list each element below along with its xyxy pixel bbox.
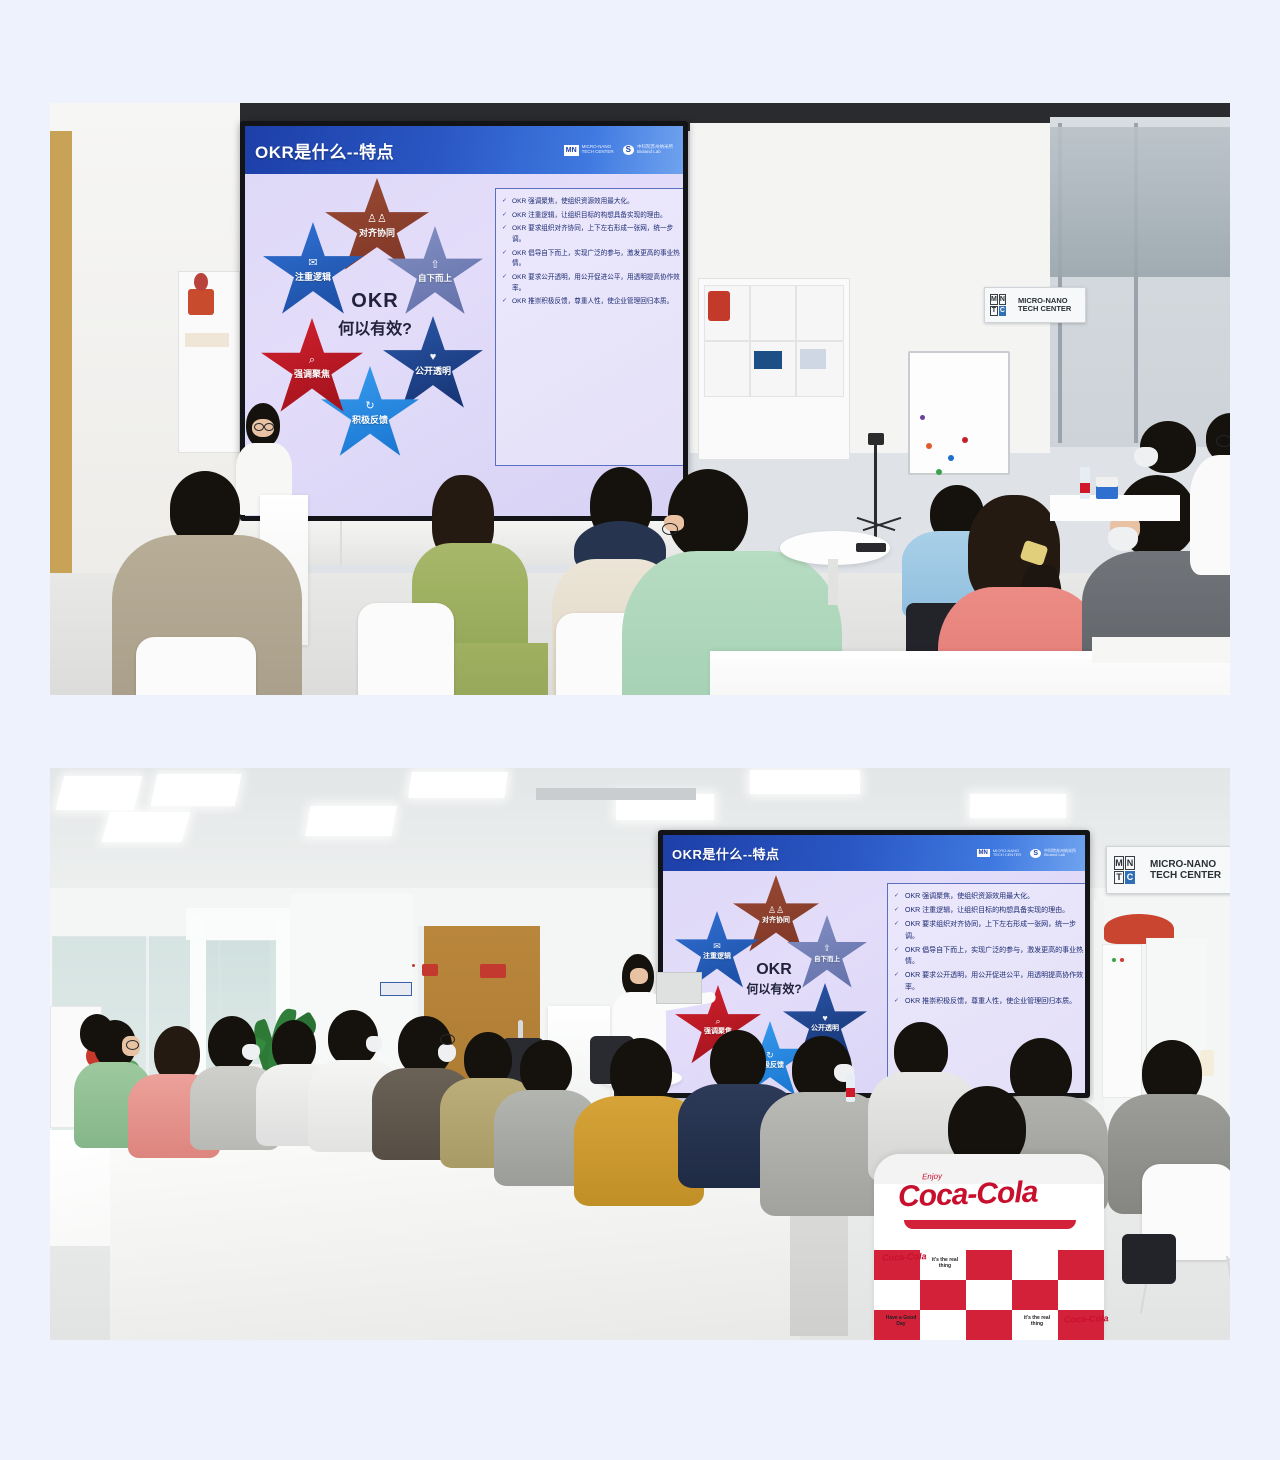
camera-body <box>868 433 884 445</box>
window-glass <box>1050 127 1230 277</box>
check-icon: ✓ <box>894 970 899 980</box>
star-label: 公开透明 <box>415 364 451 377</box>
bullet-item: ✓ OKR 要求组织对齐协同，上下左右形成一张网，统一步调。 <box>502 224 683 245</box>
page-root: M N T C MICRO-NANO TECH CENTER OKR是什么--特… <box>0 0 1280 1460</box>
search-icon: ⌕ <box>309 355 315 366</box>
bottle-label <box>846 1088 855 1097</box>
bullet-list: ✓ OKR 强调聚焦，使组织资源效用最大化。 ✓ OKR 注重逻辑，让组织目标的… <box>894 891 1084 1008</box>
bullet-item: ✓ OKR 注重逻辑，让组织目标的构想具备实现的理由。 <box>502 211 683 222</box>
check-icon: ✓ <box>894 919 899 929</box>
magnet-dot <box>948 455 954 461</box>
audience-glasses <box>440 1034 455 1045</box>
audience-glasses <box>126 1040 139 1050</box>
audience-head-2 <box>80 1014 114 1052</box>
logo-letter-t: T <box>990 306 998 317</box>
bullet-item: ✓ OKR 强调聚焦，使组织资源效用最大化。 <box>502 197 683 208</box>
coca-small-logo-2: Coca-Cola <box>1064 1313 1109 1325</box>
shelf-frame <box>800 349 826 369</box>
bullet-text: OKR 注重逻辑，让组织目标的构想具备实现的理由。 <box>512 211 683 222</box>
checker-square <box>966 1310 1012 1340</box>
feedback-icon: ↻ <box>766 1051 774 1060</box>
search-icon: ⌕ <box>715 1017 720 1026</box>
photo-top: M N T C MICRO-NANO TECH CENTER OKR是什么--特… <box>50 103 1230 695</box>
bullet-text: OKR 注重逻辑，让组织目标的构想具备实现的理由。 <box>905 905 1084 917</box>
bullet-text: OKR 强调聚焦，使组织资源效用最大化。 <box>905 891 1084 903</box>
handshake-icon: ♙♙ <box>768 906 784 915</box>
slide-title: OKR是什么--特点 <box>672 844 780 863</box>
bullet-item: ✓ OKR 推崇积极反馈，尊重人性，使企业管理回归本质。 <box>502 297 683 308</box>
star-label: 注重逻辑 <box>703 951 731 961</box>
shelf-cell <box>704 341 750 397</box>
presentation-display-top: OKR是什么--特点 MN MICRO-NANO TECH CENTER S <box>240 121 688 521</box>
check-icon: ✓ <box>894 891 899 901</box>
check-icon: ✓ <box>502 249 507 259</box>
blue-box <box>1096 485 1118 499</box>
cabinet-seam <box>340 521 342 565</box>
logo-letter-c: C <box>1125 871 1135 885</box>
check-icon: ✓ <box>502 197 507 207</box>
ceiling-light <box>750 770 860 794</box>
star-diagram-top: ♙♙ 对齐协同 ⇧ 自下而上 ♥ 公开透明 ↻ <box>259 178 489 468</box>
tripod-pole <box>874 445 877 545</box>
red-flowers <box>194 273 208 291</box>
bottle-label <box>1080 483 1090 493</box>
magnet-dot <box>926 443 932 449</box>
wall-sign-line2: TECH CENTER <box>1018 305 1071 313</box>
logo-letter-m: M <box>990 294 998 305</box>
face-mask <box>438 1044 456 1062</box>
tripod-leg <box>863 517 902 531</box>
bullet-text: OKR 要求公开透明，用公开促进公平，用透明提高协作效率。 <box>512 273 683 294</box>
bullet-item: ✓ OKR 要求公开透明，用公开促进公平，用透明提高协作效率。 <box>894 970 1084 994</box>
meeting-room-scene-bottom: OKR是什么--特点 MN MICRO-NANO TECH CENTER S <box>50 768 1230 1340</box>
star-jiji-fankui: ↻ 积极反馈 <box>321 366 419 460</box>
audience-glasses <box>1216 435 1230 447</box>
logo-text-2: 中科院苏州纳米所 Bioland Lab <box>1044 849 1076 857</box>
presenter-glasses <box>264 423 274 431</box>
audience-head-beige <box>170 471 240 545</box>
face-mask <box>366 1036 382 1052</box>
heart-icon: ♥ <box>430 352 437 363</box>
bullet-panel-top: ✓ OKR 强调聚焦，使组织资源效用最大化。 ✓ OKR 注重逻辑，让组织目标的… <box>495 188 683 466</box>
logo-mark: MN <box>564 145 579 156</box>
logo-micro-nano: MN MICRO-NANO TECH CENTER <box>564 145 614 156</box>
indicator-dot <box>1112 958 1116 962</box>
feedback-icon: ↻ <box>365 401 374 412</box>
bullet-list: ✓ OKR 强调聚焦，使组织资源效用最大化。 ✓ OKR 注重逻辑，让组织目标的… <box>502 197 683 308</box>
jacket-tagline-3: it's the real thing <box>1020 1316 1054 1327</box>
link-icon: ✉ <box>713 942 721 951</box>
bullet-item: ✓ OKR 要求公开透明，用公开促进公平，用透明提高协作效率。 <box>502 273 683 294</box>
ceiling-light <box>102 812 191 842</box>
arrow-up-icon: ⇧ <box>430 260 439 271</box>
magnet-dot <box>962 437 968 443</box>
ceiling-vent <box>536 788 696 800</box>
check-icon: ✓ <box>502 297 507 307</box>
bullet-text: OKR 要求组织对齐协同，上下左右形成一张网，统一步调。 <box>512 224 683 245</box>
tall-white-cabinet <box>1102 944 1142 1098</box>
bullet-item: ✓ OKR 推崇积极反馈，尊重人性，使企业管理回归本质。 <box>894 996 1084 1008</box>
shelf-books <box>185 333 229 347</box>
hand-sanitizer <box>1200 1050 1214 1076</box>
round-table-stem <box>828 559 838 605</box>
checker-square <box>1012 1280 1058 1310</box>
face-mask <box>1108 527 1138 551</box>
whiteboard <box>908 351 1010 475</box>
handshake-icon: ♙♙ <box>367 214 387 225</box>
star-label: 对齐协同 <box>762 915 790 925</box>
wall-sign-mntc: M N T C MICRO-NANO TECH CENTER <box>984 287 1086 323</box>
logo-bioland: S 中科院苏州纳米所 Bioland Lab <box>1030 849 1076 858</box>
wall-sign-mntc-bottom: M N T C MICRO-NANO TECH CENTER <box>1106 846 1230 894</box>
face-mask <box>1134 447 1158 467</box>
photo-bottom: OKR是什么--特点 MN MICRO-NANO TECH CENTER S <box>50 768 1230 1340</box>
bullet-text: OKR 倡导自下而上，实现广泛的参与，激发更高的事业热情。 <box>905 945 1084 969</box>
checker-square <box>920 1280 966 1310</box>
wall-sign-text: MICRO-NANO TECH CENTER <box>1018 297 1071 314</box>
ceiling-light <box>56 776 142 810</box>
logo-mark-2: S <box>1030 849 1041 858</box>
smoke-detector <box>412 964 415 967</box>
check-icon: ✓ <box>502 224 507 234</box>
check-icon: ✓ <box>894 996 899 1006</box>
audience-head-11 <box>710 1030 766 1092</box>
arrow-up-icon: ⇧ <box>823 944 831 953</box>
face-mask <box>242 1044 260 1060</box>
wood-door-frame <box>50 131 72 601</box>
wall-sign-line2: TECH CENTER <box>1150 870 1221 881</box>
star-label: 注重逻辑 <box>295 270 331 283</box>
ceiling-light <box>151 774 242 806</box>
chair <box>136 637 256 695</box>
checker-square <box>966 1250 1012 1280</box>
shelf-book <box>754 351 782 369</box>
slide-header: OKR是什么--特点 MN MICRO-NANO TECH CENTER S <box>663 835 1085 871</box>
wall-sign-text: MICRO-NANO TECH CENTER <box>1150 859 1221 881</box>
audience-body-white <box>1190 455 1230 575</box>
red-plant-pot <box>188 289 214 315</box>
chair <box>358 603 454 695</box>
center-question: 何以有效? <box>725 980 823 997</box>
star-label: 强调聚焦 <box>294 367 330 380</box>
checker-square <box>1058 1250 1104 1280</box>
slide-logos: MN MICRO-NANO TECH CENTER S 中科院苏州纳米所 <box>977 849 1076 858</box>
magnet-dot <box>920 415 925 420</box>
magnet-dot <box>936 469 942 475</box>
logo-mark: MN <box>977 849 990 857</box>
wall-plaque <box>380 982 412 996</box>
star-label: 对齐协同 <box>359 226 395 239</box>
center-okr: OKR <box>319 290 431 313</box>
logo-text: MICRO-NANO TECH CENTER <box>582 145 614 154</box>
presenter-face <box>630 968 648 984</box>
remote-control <box>856 543 886 552</box>
coca-small-logo: Coca-Cola <box>882 1251 927 1263</box>
star-label: 积极反馈 <box>352 413 388 426</box>
logo-letter-t: T <box>1114 871 1124 885</box>
mntc-logo-mark: M N T C <box>1114 856 1146 884</box>
slide-top: OKR是什么--特点 MN MICRO-NANO TECH CENTER S <box>245 126 683 516</box>
bullet-item: ✓ OKR 倡导自下而上，实现广泛的参与，激发更高的事业热情。 <box>894 945 1084 969</box>
star-center-label: OKR 何以有效? <box>319 290 431 339</box>
audience-lower-right <box>1122 1234 1176 1284</box>
shelf-cell <box>796 285 844 341</box>
coca-cola-brand: Coca-Cola <box>897 1176 1037 1215</box>
cocacola-jacket: Enjoy Coca-Cola it's the real thing Have… <box>874 1154 1104 1340</box>
bullet-text: OKR 要求组织对齐协同，上下左右形成一张网，统一步调。 <box>905 919 1084 943</box>
logo-mark-2: S <box>623 145 634 155</box>
ceiling-light <box>970 794 1066 818</box>
logo-letter-n: N <box>999 294 1006 305</box>
star-center-label: OKR 何以有效? <box>725 961 823 997</box>
check-icon: ✓ <box>502 211 507 221</box>
bullet-item: ✓ OKR 注重逻辑，让组织目标的构想具备实现的理由。 <box>894 905 1084 917</box>
star-label: 公开透明 <box>811 1023 839 1033</box>
wall-sign-line1: MICRO-NANO <box>1150 859 1221 870</box>
shelf-cell <box>750 285 796 341</box>
bullet-item: ✓ OKR 要求组织对齐协同，上下左右形成一张网，统一步调。 <box>894 919 1084 943</box>
jacket-tagline-2: Have a Good Day <box>884 1316 918 1327</box>
shelf-cell <box>750 341 796 397</box>
center-okr: OKR <box>725 961 823 979</box>
presenter-glasses <box>254 423 264 431</box>
slide-logos: MN MICRO-NANO TECH CENTER S 中科院苏州纳米所 <box>564 145 673 156</box>
center-question: 何以有效? <box>319 315 431 339</box>
fire-label <box>422 964 438 976</box>
logo-bioland: S 中科院苏州纳米所 Bioland Lab <box>623 145 673 155</box>
logo-text: MICRO-NANO TECH CENTER <box>993 849 1021 857</box>
bullet-text: OKR 推崇积极反馈，尊重人性，使企业管理回归本质。 <box>512 297 683 308</box>
star-label: 自下而上 <box>418 272 452 284</box>
bullet-item: ✓ OKR 强调聚焦，使组织资源效用最大化。 <box>894 891 1084 903</box>
slide-header: OKR是什么--特点 MN MICRO-NANO TECH CENTER S <box>245 126 683 174</box>
audience-head-mint <box>668 469 748 559</box>
logo-letter-c: C <box>999 306 1006 317</box>
counter-back-edge <box>1092 637 1230 663</box>
bullet-text: OKR 倡导自下而上，实现广泛的参与，激发更高的事业热情。 <box>512 249 683 270</box>
check-icon: ✓ <box>894 945 899 955</box>
logo-text-2: 中科院苏州纳米所 Bioland Lab <box>637 145 673 154</box>
coca-swoosh <box>904 1220 1076 1229</box>
logo-letter-m: M <box>1114 856 1124 870</box>
bullet-text: OKR 强调聚焦，使组织资源效用最大化。 <box>512 197 683 208</box>
tissue-box <box>1096 477 1118 487</box>
monitor-small <box>656 972 702 1004</box>
bullet-item: ✓ OKR 倡导自下而上，实现广泛的参与，激发更高的事业热情。 <box>502 249 683 270</box>
meeting-room-scene-top: M N T C MICRO-NANO TECH CENTER OKR是什么--特… <box>50 103 1230 695</box>
heart-icon: ♥ <box>822 1014 827 1023</box>
mntc-logo-mark: M N T C <box>990 294 1014 316</box>
check-icon: ✓ <box>502 273 507 283</box>
link-icon: ✉ <box>308 258 317 269</box>
audience-glasses <box>662 523 678 535</box>
shelf-pot <box>708 291 730 321</box>
bullet-text: OKR 要求公开透明，用公开促进公平，用透明提高协作效率。 <box>905 970 1084 994</box>
bullet-text: OKR 推崇积极反馈，尊重人性，使企业管理回归本质。 <box>905 996 1084 1008</box>
logo-letter-n: N <box>1125 856 1135 870</box>
ceiling-light <box>305 806 396 836</box>
slide-title: OKR是什么--特点 <box>255 138 394 163</box>
check-icon: ✓ <box>894 905 899 915</box>
exit-sign <box>480 964 506 978</box>
jacket-tagline-1: it's the real thing <box>928 1258 962 1269</box>
ceiling-light <box>408 772 508 798</box>
logo-micro-nano: MN MICRO-NANO TECH CENTER <box>977 849 1022 857</box>
indicator-dot <box>1120 958 1124 962</box>
